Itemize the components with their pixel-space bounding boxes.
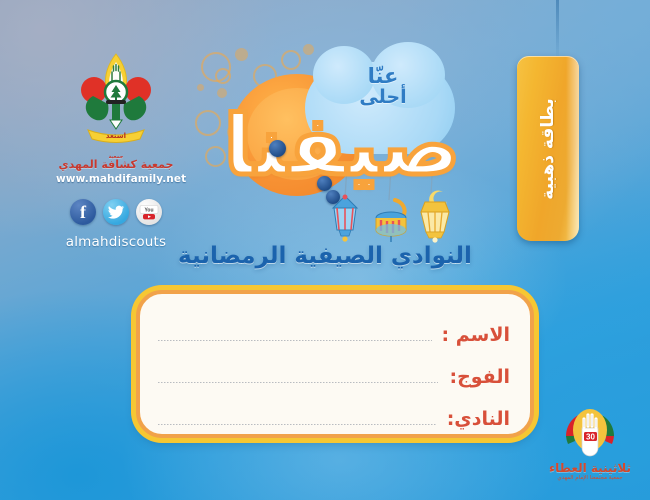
twitter-bird-glyph <box>108 205 125 219</box>
scouts-org-block: استعد جمعية جمعية كشافة المهدي www.mahdi… <box>56 50 176 250</box>
svg-text:You: You <box>144 207 153 213</box>
giving-org-name: ثلاثينية العطاء <box>534 461 646 475</box>
youtube-glyph: You <box>139 205 159 220</box>
giving-org-subtitle: جمعية مجتمعنا الإمام المهدي <box>534 475 646 482</box>
facebook-glyph: f <box>80 203 86 221</box>
colorful-drum-ornament <box>373 198 413 252</box>
pearl-dot <box>269 140 286 157</box>
yellow-lantern-ornament <box>417 190 453 248</box>
troop-field-input[interactable] <box>158 382 438 383</box>
member-info-form: الاسم : الفوج: النادي: <box>136 290 534 438</box>
cloud-tagline-line-1: عنّا <box>313 66 453 87</box>
name-field-input[interactable] <box>158 340 432 341</box>
summer-ramadan-lettering: عنّا أحلى صيفنا <box>195 48 465 248</box>
form-row-troop: الفوج: <box>158 348 510 390</box>
name-field-label: الاسم : <box>442 324 510 348</box>
club-field-label: النادي: <box>447 408 510 432</box>
big-word-sayfna: صيفنا <box>217 110 467 184</box>
promo-card-canvas: استعد جمعية جمعية كشافة المهدي www.mahdi… <box>0 0 650 500</box>
form-row-club: النادي: <box>158 390 510 432</box>
blue-lantern-ornament <box>327 194 363 250</box>
social-links: f You <box>56 199 176 225</box>
hand-with-30-emblem: 30 <box>544 408 636 460</box>
golden-card-tab-label: بطاقة ذهبية <box>538 98 558 199</box>
form-row-name: الاسم : <box>158 306 510 348</box>
twitter-icon[interactable] <box>103 199 129 225</box>
scouts-org-name-text: جمعية كشافة المهدي <box>59 158 174 171</box>
background-streak <box>556 0 559 62</box>
scouts-org-website[interactable]: www.mahdifamily.net <box>56 173 176 185</box>
golden-card-tab[interactable]: بطاقة ذهبية <box>517 56 579 241</box>
badge-number-30: 30 <box>586 432 595 441</box>
scout-fleur-de-lis-emblem: استعد <box>66 50 166 150</box>
facebook-icon[interactable]: f <box>70 199 96 225</box>
pearl-dot <box>317 176 332 191</box>
troop-field-label: الفوج: <box>448 366 510 390</box>
club-field-input[interactable] <box>158 424 437 425</box>
scouts-org-name: جمعية جمعية كشافة المهدي <box>56 154 176 171</box>
giving-org-block: 30 ثلاثينية العطاء جمعية مجتمعنا الإمام … <box>534 408 646 482</box>
svg-text:استعد: استعد <box>106 132 126 140</box>
youtube-icon[interactable]: You <box>136 199 162 225</box>
